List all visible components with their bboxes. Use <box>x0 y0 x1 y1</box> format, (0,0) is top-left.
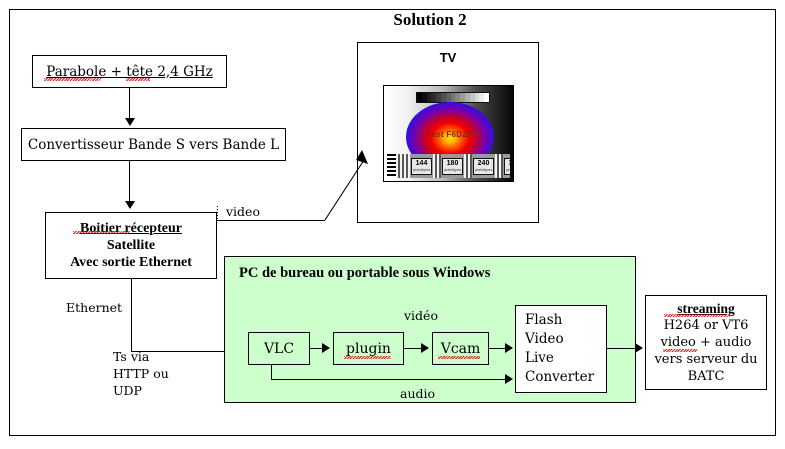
box-plugin[interactable]: plugin <box>333 332 404 365</box>
ethernet-line-vertical <box>131 279 132 351</box>
video-tap-dotted <box>217 206 218 220</box>
box-recepteur-line3: Avec sortie Ethernet <box>70 254 192 271</box>
box-recepteur-line2: Satellite <box>107 237 155 254</box>
connector-parabole-to-convertisseur <box>129 88 130 120</box>
testcard-cell-144: 144 pixels/lignes <box>411 158 432 175</box>
spellcheck-underline-video <box>663 349 697 352</box>
box-convertisseur-label: Convertisseur Bande S vers Bande L <box>28 137 279 153</box>
spellcheck-underline-streaming <box>664 314 730 317</box>
tv-testcard-image: Test F6DZP 144 pixels/lignes 180 pixels/… <box>383 85 514 182</box>
box-streaming-line3: vers serveur du <box>654 351 757 368</box>
page-title: Solution 2 <box>340 10 520 30</box>
arrow-right-vcam <box>421 343 429 353</box>
spellcheck-underline-boitier <box>73 231 130 234</box>
testcard-cell-144-value: 144 <box>416 160 428 168</box>
testcard-barcode-left <box>387 154 396 178</box>
video-line-horizontal <box>217 220 325 221</box>
testcard-stripes-0 <box>396 154 410 178</box>
box-convertisseur[interactable]: Convertisseur Bande S vers Bande L <box>21 128 286 161</box>
box-streaming[interactable]: streaming H264 or VT6 video + audio vers… <box>645 295 767 390</box>
box-vcam-label: Vcam <box>441 341 481 357</box>
connector-plugin-to-vcam <box>404 348 422 349</box>
box-streaming-line1: H264 or VT6 <box>664 317 749 334</box>
testcard-cell-240-sub: pixels/lignes <box>475 168 492 172</box>
testcard-stripes-3 <box>495 154 503 178</box>
box-flash-line4: Converter <box>516 368 594 387</box>
label-ethernet: Ethernet <box>66 300 122 315</box>
box-parabole[interactable]: Parabole + tête 2,4 GHz <box>32 55 227 88</box>
spellcheck-underline-parabole <box>44 78 101 81</box>
box-streaming-line4: BATC <box>688 368 725 385</box>
label-ts-line1: Ts via <box>113 349 149 364</box>
arrow-down-convertisseur <box>125 118 135 126</box>
box-vlc[interactable]: VLC <box>248 332 310 365</box>
box-vlc-label: VLC <box>264 341 294 357</box>
testcard-resolution-bar: 144 pixels/lignes 180 pixels/lignes 240 … <box>387 154 510 178</box>
box-vcam[interactable]: Vcam <box>432 332 489 365</box>
label-ts-line3: UDP <box>113 383 142 398</box>
testcard-cell-360-value: 360 <box>509 160 510 168</box>
testcard-cell-240-value: 240 <box>478 160 490 168</box>
arrow-right-flash-video <box>505 343 513 353</box>
testcard-cell-180: 180 pixels/lignes <box>442 158 463 175</box>
arrow-right-flash-audio <box>505 374 513 384</box>
box-flash-line1: Flash <box>516 311 562 330</box>
arrow-right-streaming <box>635 343 643 353</box>
testcard-cell-360-sub: pixels/lignes <box>506 168 510 172</box>
audio-line-horizontal <box>271 379 507 380</box>
spellcheck-underline-plugin <box>344 356 391 359</box>
connector-convertisseur-to-recepteur <box>129 161 130 203</box>
box-recepteur-line1: Boitier récepteur <box>80 220 182 237</box>
label-transport-stream: Ts via HTTP ou UDP <box>113 348 169 399</box>
box-plugin-label: plugin <box>346 341 391 357</box>
testcard-cell-180-value: 180 <box>447 160 459 168</box>
testcard-stripes-2 <box>464 154 472 178</box>
testcard-cell-240: 240 pixels/lignes <box>473 158 494 175</box>
testcard-cell-144-sub: pixels/lignes <box>413 168 430 172</box>
audio-line-vertical <box>271 365 272 379</box>
label-ts-line2: HTTP ou <box>113 366 169 381</box>
box-tv[interactable]: TV Test F6DZP 144 pixels/lignes <box>357 42 539 223</box>
connector-flash-to-streaming <box>607 348 637 349</box>
arrow-down-recepteur <box>125 201 135 209</box>
diagram-canvas: Solution 2 Parabole + tête 2,4 GHz Conve… <box>0 0 785 449</box>
tv-label: TV <box>358 50 538 65</box>
label-audio: audio <box>400 386 435 401</box>
testcard-center-text: Test F6DZP <box>406 130 494 139</box>
box-recepteur-satellite[interactable]: Boitier récepteur Satellite Avec sortie … <box>45 212 217 279</box>
testcard-stripes-1 <box>433 154 441 178</box>
box-flash-video-live-converter[interactable]: Flash Video Live Converter <box>515 305 607 393</box>
box-flash-line3: Live <box>516 349 554 368</box>
spellcheck-underline-tete <box>126 78 150 81</box>
pc-label: PC de bureau ou portable sous Windows <box>239 265 490 282</box>
testcard-cell-360: 360 pixels/lignes <box>504 158 510 175</box>
label-video: video <box>226 204 260 219</box>
arrow-right-plugin <box>322 343 330 353</box>
testcard-cell-180-sub: pixels/lignes <box>444 168 461 172</box>
label-video-fr: vidéo <box>404 308 438 323</box>
spellcheck-underline-vcam <box>438 356 480 359</box>
box-flash-line2: Video <box>516 330 564 349</box>
